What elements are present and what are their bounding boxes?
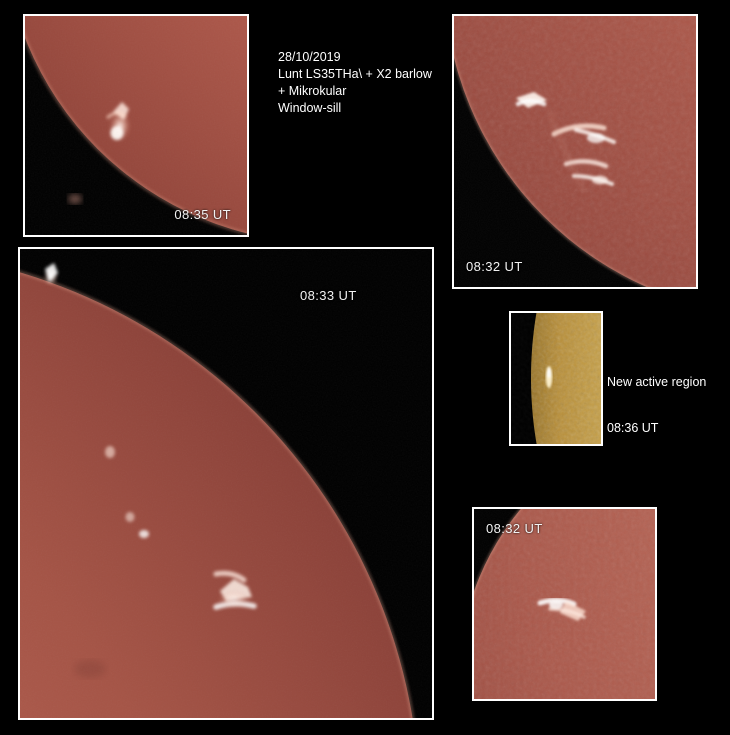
panel-center-large: 08:33 UT bbox=[18, 247, 434, 720]
panel-top-left: 08:35 UT bbox=[23, 14, 249, 237]
caption-accessory: + Mikrokular bbox=[278, 83, 432, 100]
caption-date: 28/10/2019 bbox=[278, 49, 432, 66]
solar-image-top-right bbox=[454, 16, 696, 287]
caption-block: 28/10/2019 Lunt LS35THa\ + X2 barlow + M… bbox=[278, 49, 432, 117]
solar-image-center-large bbox=[20, 249, 432, 718]
timestamp-top-left: 08:35 UT bbox=[174, 207, 231, 222]
timestamp-white-light: 08:36 UT bbox=[607, 421, 658, 435]
caption-equipment: Lunt LS35THa\ + X2 barlow bbox=[278, 66, 432, 83]
timestamp-center-large: 08:33 UT bbox=[300, 288, 357, 303]
timestamp-bottom-right: 08:32 UT bbox=[486, 521, 543, 536]
label-new-active-region: New active region bbox=[607, 375, 706, 389]
panel-white-light bbox=[509, 311, 603, 446]
timestamp-top-right: 08:32 UT bbox=[466, 259, 523, 274]
panel-bottom-right: 08:32 UT bbox=[472, 507, 657, 701]
solar-image-top-left bbox=[25, 16, 247, 235]
caption-location: Window-sill bbox=[278, 100, 432, 117]
panel-top-right: 08:32 UT bbox=[452, 14, 698, 289]
solar-image-white-light bbox=[511, 313, 601, 444]
solar-image-bottom-right bbox=[474, 509, 655, 699]
